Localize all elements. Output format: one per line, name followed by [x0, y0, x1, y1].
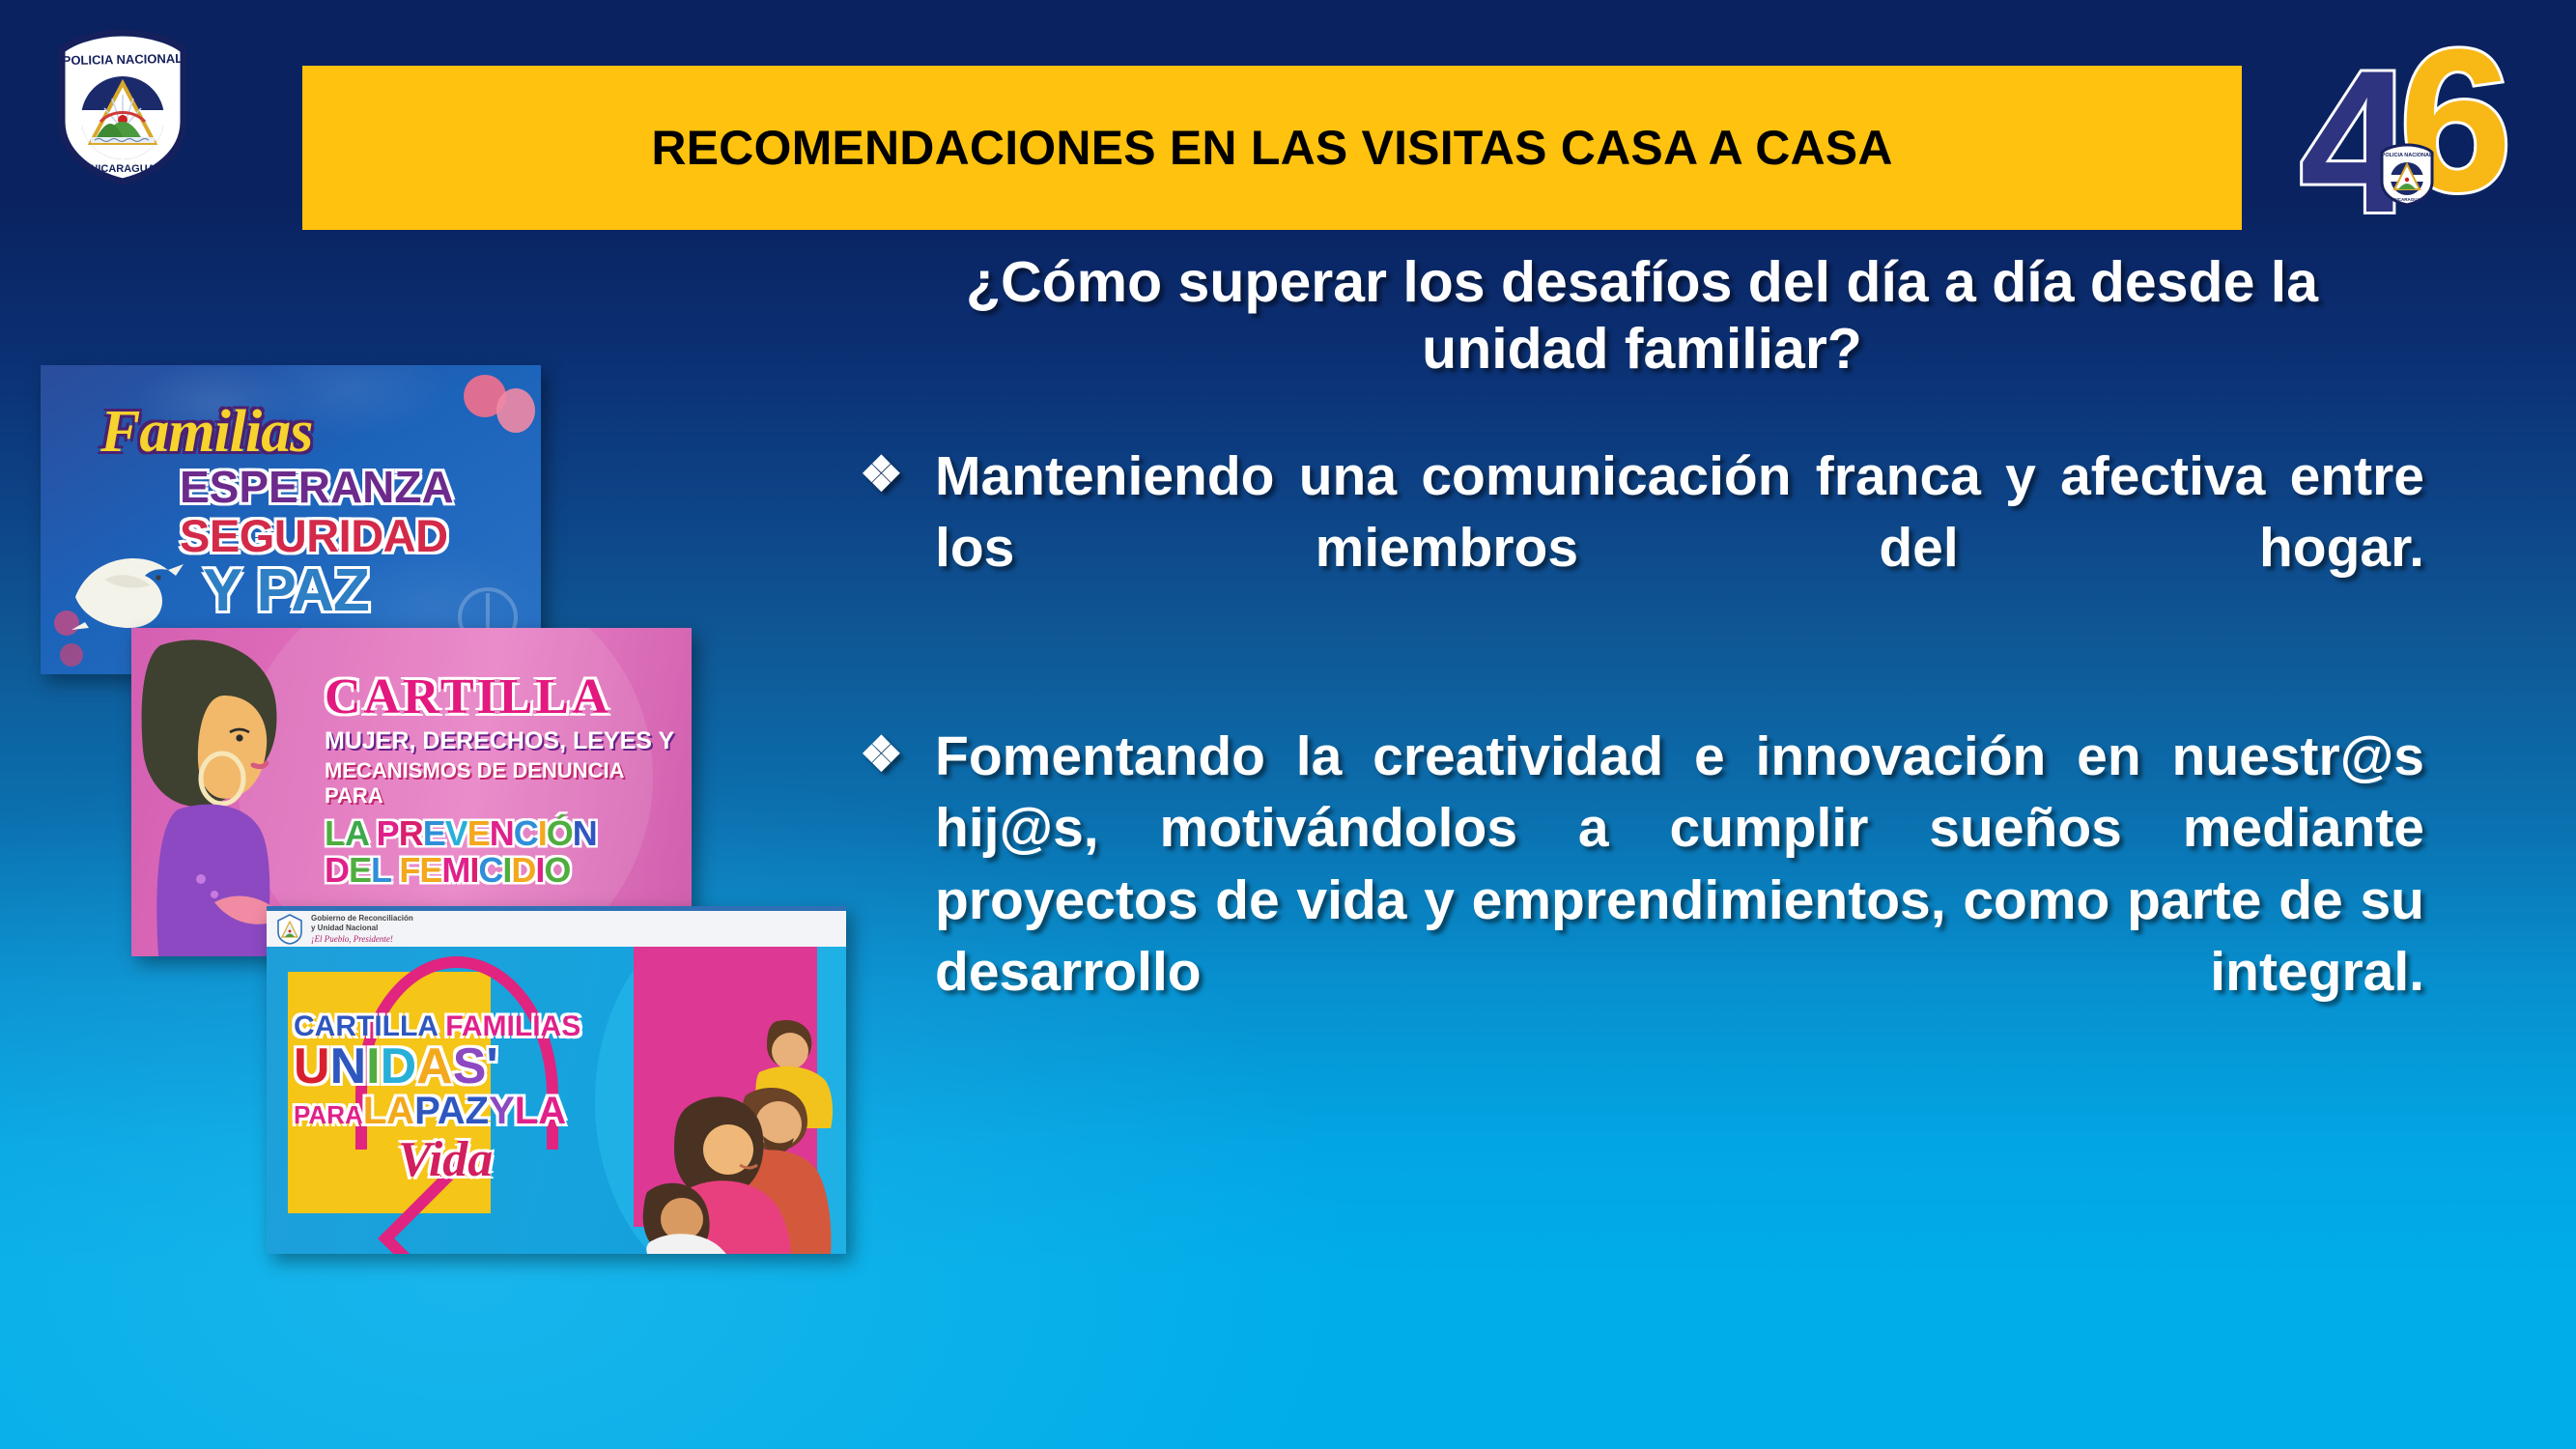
slide-canvas: POLICIA NACIONAL NICARAGUA RECOMENDACION…: [0, 0, 2576, 1449]
slide-content: ¿Cómo superar los desafíos del día a día…: [860, 249, 2424, 1079]
svg-text:POLICIA NACIONAL: POLICIA NACIONAL: [63, 51, 184, 68]
poster-familias-line-esperanza: ESPERANZA: [180, 461, 522, 513]
poster-cartilla-title: CARTILLA: [325, 668, 684, 725]
poster-familias-text: Familias ESPERANZA SEGURIDAD Y PAZ: [97, 398, 522, 625]
bullet-text-creatividad: Fomentando la creatividad e innovación e…: [935, 721, 2424, 1078]
poster-unidas-body: CARTILLA FAMILIAS UNIDAS' PARALAPAZYLA V…: [267, 947, 846, 1254]
poster-cartilla-familias-unidas: Gobierno de Reconciliación y Unidad Naci…: [267, 906, 846, 1254]
gov-slogan: ¡El Pueblo, Presidente!: [311, 934, 413, 944]
poster-cartilla-text: CARTILLA MUJER, DERECHOS, LEYES Y MECANI…: [325, 668, 684, 888]
poster-unidas-word-para: PARA: [294, 1100, 363, 1129]
bullet-text-comunicacion: Manteniendo una comunicación franca y af…: [935, 440, 2424, 655]
poster-cartilla-highlight-2: DEL FEMICIDIO: [325, 853, 684, 888]
question-heading: ¿Cómo superar los desafíos del día a día…: [860, 249, 2424, 383]
poster-familias-line-ypaz: Y PAZ: [203, 556, 522, 625]
poster-unidas-text: CARTILLA FAMILIAS UNIDAS' PARALAPAZYLA V…: [294, 1010, 622, 1188]
page-title: RECOMENDACIONES EN LAS VISITAS CASA A CA…: [651, 120, 1892, 176]
svg-text:NICARAGUA: NICARAGUA: [90, 163, 155, 175]
poster-familias-line-seguridad: SEGURIDAD: [180, 509, 522, 562]
bullet-item-creatividad: ❖ Fomentando la creatividad e innovación…: [860, 721, 2424, 1078]
poster-unidas-word-paz: PAZ: [414, 1090, 489, 1132]
slide-title-banner: RECOMENDACIONES EN LAS VISITAS CASA A CA…: [302, 66, 2242, 230]
poster-unidas-line-3: PARALAPAZYLA: [294, 1090, 622, 1133]
poster-unidas-line-2: UNIDAS': [294, 1037, 622, 1095]
poster-unidas-word-la2: LA: [515, 1090, 566, 1132]
svg-text:NICARAGUA: NICARAGUA: [2393, 197, 2420, 202]
poster-unidas-word-y: Y: [489, 1090, 515, 1132]
poster-cartilla-subtitle-1: MUJER, DERECHOS, LEYES Y: [325, 727, 684, 755]
policia-nacional-shield-icon: POLICIA NACIONAL NICARAGUA: [54, 29, 191, 185]
nicaragua-coat-of-arms-icon: [276, 914, 303, 945]
gov-line-1: Gobierno de Reconciliación: [311, 914, 413, 923]
poster-unidas-word-la1: LA: [363, 1090, 414, 1132]
government-header-bar: Gobierno de Reconciliación y Unidad Naci…: [267, 906, 846, 947]
policia-nacional-mini-shield-icon: POLICIA NACIONAL NICARAGUA: [2379, 143, 2435, 207]
page-number-digit-first: 4: [2300, 41, 2413, 243]
gov-line-2: y Unidad Nacional: [311, 923, 413, 932]
flower-decoration-icon: [60, 643, 83, 667]
poster-unidas-script-vida: Vida: [398, 1131, 622, 1188]
poster-collage: Familias ESPERANZA SEGURIDAD Y PAZ: [27, 365, 877, 1331]
poster-familias-script-title: Familias: [100, 398, 522, 467]
slide-page-number: 6 4 POLICIA NACIONAL NICARAGUA: [2298, 12, 2559, 214]
bullet-item-comunicacion: ❖ Manteniendo una comunicación franca y …: [860, 440, 2424, 655]
poster-cartilla-highlight-1: LA PREVENCIÓN: [325, 816, 684, 851]
poster-cartilla-subtitle-2: MECANISMOS DE DENUNCIA PARA: [325, 758, 684, 809]
svg-text:POLICIA NACIONAL: POLICIA NACIONAL: [2382, 153, 2433, 158]
family-embrace-illustration: [639, 1012, 842, 1254]
